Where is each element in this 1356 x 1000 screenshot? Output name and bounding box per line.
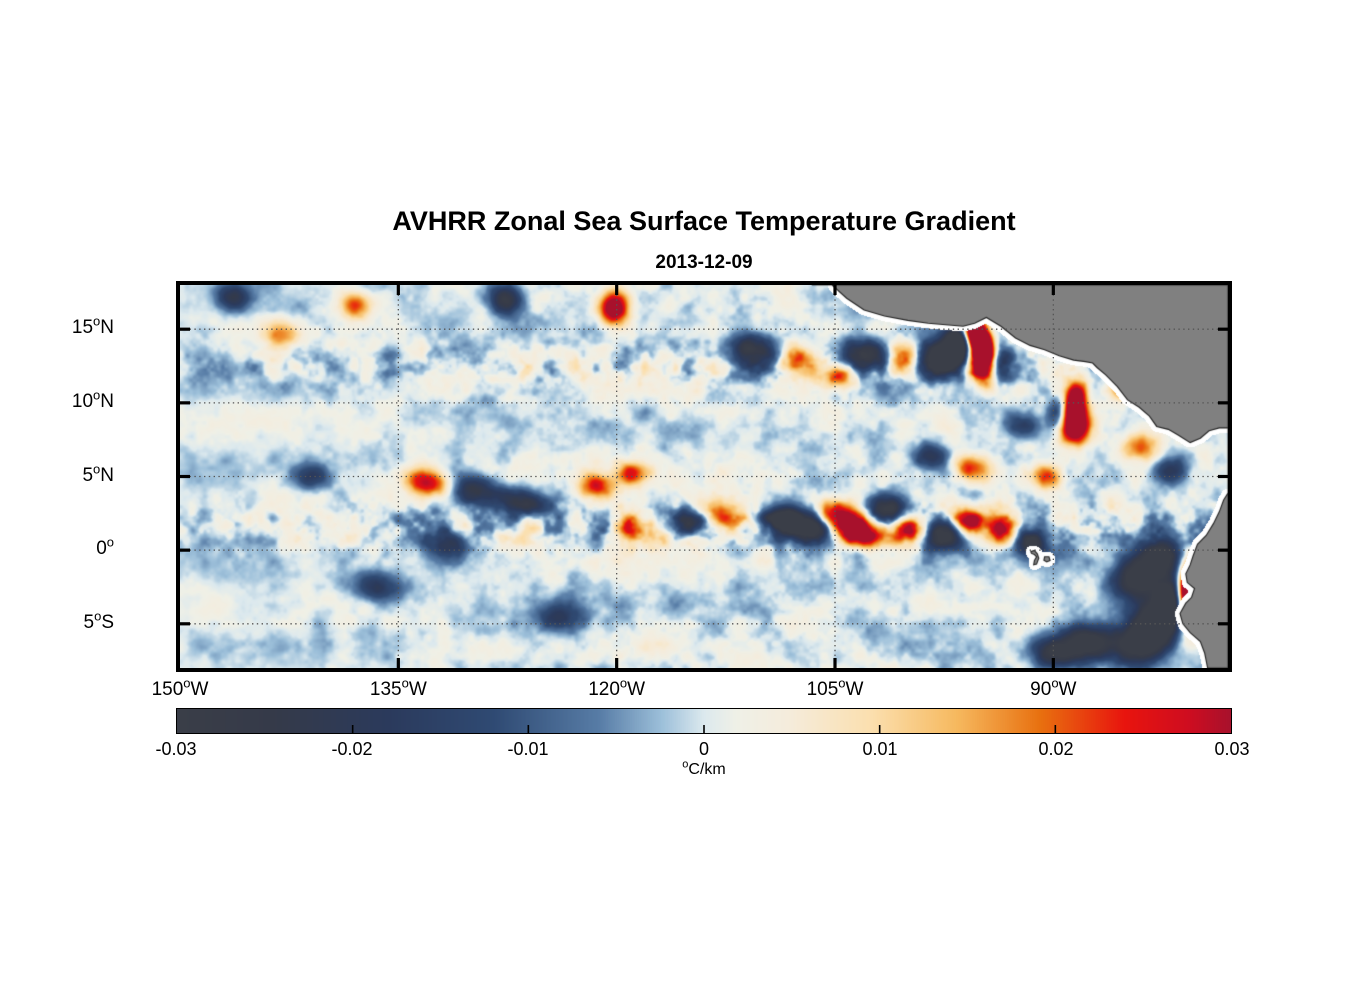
map-plot-area (176, 281, 1232, 672)
y-tick-label: 5oS (84, 613, 115, 632)
x-tick-label: 135oW (370, 680, 427, 699)
x-tick-label: 150oW (152, 680, 209, 699)
x-tick-label: 90oW (1030, 680, 1076, 699)
colorbar-tick-label: 0.03 (1214, 740, 1249, 758)
colorbar-tick-label: 0 (699, 740, 709, 758)
x-tick-label: 120oW (588, 680, 645, 699)
colorbar-tick-label: -0.03 (155, 740, 196, 758)
y-tick-label: 15oN (72, 318, 114, 337)
figure-canvas: AVHRR Zonal Sea Surface Temperature Grad… (0, 0, 1356, 1000)
page-title: AVHRR Zonal Sea Surface Temperature Grad… (176, 206, 1232, 237)
y-tick-label: 10oN (72, 392, 114, 411)
colorbar-tick-label: 0.02 (1038, 740, 1073, 758)
colorbar-tick-label: 0.01 (862, 740, 897, 758)
colorbar-tick-label: -0.02 (331, 740, 372, 758)
sst-gradient-heatmap (180, 285, 1228, 668)
x-tick-label: 105oW (807, 680, 864, 699)
colorbar (176, 708, 1232, 734)
y-tick-label: 0o (96, 539, 114, 558)
colorbar-unit-label: oC/km (176, 761, 1232, 779)
figure-date-subtitle: 2013-12-09 (176, 252, 1232, 274)
y-tick-label: 5oN (82, 466, 114, 485)
colorbar-tick-label: -0.01 (507, 740, 548, 758)
colorbar-gradient (177, 709, 1231, 733)
